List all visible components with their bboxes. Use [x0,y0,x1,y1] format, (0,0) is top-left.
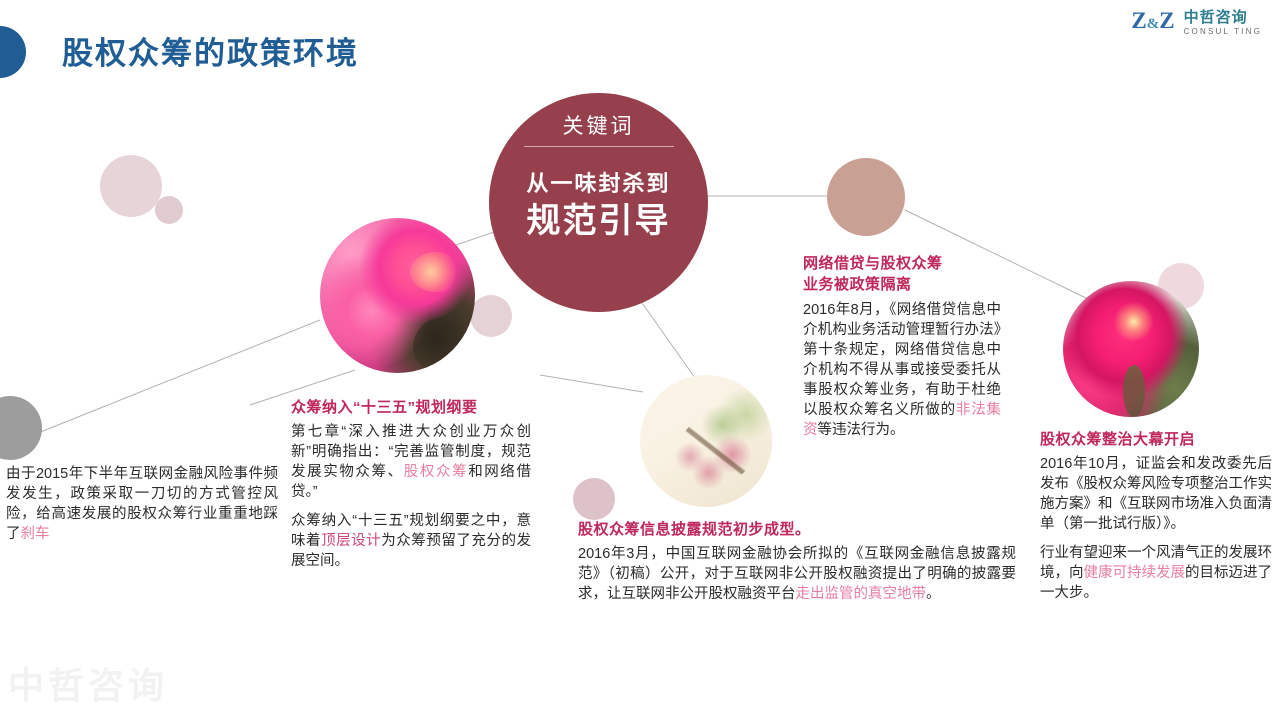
disclosure-heading: 股权众筹信息披露规范初步成型。 [578,520,1016,540]
rectify-heading: 股权众筹整治大幕开启 [1040,430,1272,450]
disclosure-body-b: 。 [926,586,941,602]
rectify-body-2-highlight: 健康可持续发展 [1084,565,1186,581]
p2p-heading-line1: 网络借贷与股权众筹 [803,254,1001,274]
photo-detail-branch [680,415,754,484]
decor-circle-tan [827,158,905,236]
hub-line2: 规范引导 [489,200,708,242]
decor-circle-pink-small [155,196,183,224]
p2p-body-a: 2016年8月，《网络借贷信息中介机构业务活动管理暂行办法》第十条规定，网络借贷… [803,302,1001,418]
plan-body-1-highlight: 股权众筹 [404,464,468,480]
plan-body-2: 众筹纳入“十三五”规划纲要之中，意味着顶层设计为众筹预留了充分的发展空间。 [291,511,531,571]
rectify-body-1: 2016年10月，证监会和发改委先后发布《股权众筹风险专项整治工作实施方案》和《… [1040,454,1272,534]
block-plan: 众筹纳入“十三五”规划纲要 第七章“深入推进大众创业万众创新”明确指出：“完善监… [291,398,531,571]
block-left-intro: 由于2015年下半年互联网金融风险事件频发发生，政策采取一刀切的方式管控风险，给… [6,464,278,544]
left-body-highlight: 刹车 [21,526,50,542]
block-rectify: 股权众筹整治大幕开启 2016年10月，证监会和发改委先后发布《股权众筹风险专项… [1040,430,1272,603]
disclosure-body: 2016年3月，中国互联网金融协会所拟的《互联网金融信息披露规范》（初稿）公开，… [578,544,1016,604]
hub-keyword-label: 关键词 [489,113,708,141]
left-body: 由于2015年下半年互联网金融风险事件频发发生，政策采取一刀切的方式管控风险，给… [6,464,278,544]
decor-circle-pink-large [100,155,162,217]
disclosure-body-highlight: 走出监管的真空地带 [796,586,927,602]
block-disclosure: 股权众筹信息披露规范初步成型。 2016年3月，中国互联网金融协会所拟的《互联网… [578,520,1016,604]
p2p-heading-line2: 业务被政策隔离 [803,275,1001,295]
decor-circle-pink-blossom [573,478,615,520]
photo-circle-blossom-buds-middle [640,375,772,507]
photo-detail-stem [1123,365,1145,417]
connector-hub-to-blossom [640,300,700,385]
p2p-body: 2016年8月，《网络借贷信息中介机构业务活动管理暂行办法》第十条规定，网络借贷… [803,300,1001,440]
decor-circle-pink-mid [470,295,512,337]
photo-circle-peach-blossom-right [1063,281,1199,417]
rectify-body-2: 行业有望迎来一个风清气正的发展环境，向健康可持续发展的目标迈进了一大步。 [1040,543,1272,603]
photo-detail-dark-leaf [413,317,475,373]
hub-line1: 从一味封杀到 [489,169,708,199]
photo-circle-peach-blossom-left [320,218,475,373]
plan-body-1: 第七章“深入推进大众创业万众创新”明确指出：“完善监管制度，规范发展实物众筹、股… [291,422,531,502]
plan-heading: 众筹纳入“十三五”规划纲要 [291,398,531,418]
slide-canvas: 股权众筹的政策环境 Z&Z 中哲咨询 CONSUL TING [0,0,1280,720]
block-p2p: 网络借贷与股权众筹 业务被政策隔离 2016年8月，《网络借贷信息中介机构业务活… [803,254,1001,440]
connector-blossom-left [540,375,643,392]
connector-left-gray [38,320,320,433]
hub-keyword-circle: 关键词 从一味封杀到 规范引导 [489,93,708,312]
plan-body-2-highlight: 顶层设计 [321,533,381,549]
p2p-body-b: 等违法行为。 [818,422,905,438]
hub-divider [524,146,674,147]
watermark: 中哲咨询 [8,664,168,708]
photo-detail-stamen [410,252,463,292]
